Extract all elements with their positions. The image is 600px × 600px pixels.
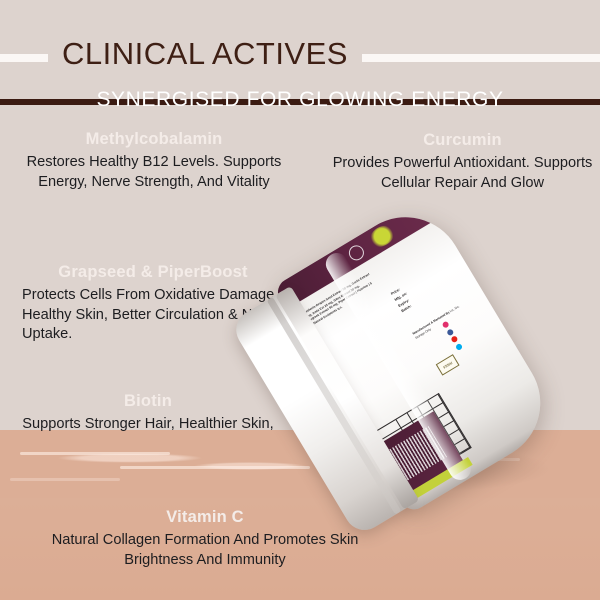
label-fields-microtext: Price: Mfg. on: Expiry: Batch:	[390, 268, 443, 315]
youtube-icon	[450, 335, 458, 343]
ingredient-block-biotin: Biotin Supports Stronger Hair, Healthier…	[18, 392, 278, 435]
ingredient-name: Methylcobalamin	[14, 130, 294, 149]
page-subtitle-text: SYNERGISED FOR GLOWING ENERGY	[86, 88, 513, 112]
social-icons	[442, 321, 465, 353]
product-image: Ingredients:Grapes Seed Extract 50 mg, G…	[250, 196, 600, 546]
ingredient-name: Curcumin	[330, 131, 595, 150]
page-subtitle: SYNERGISED FOR GLOWING ENERGY	[0, 88, 600, 112]
ingredient-block-methylcobalamin: Methylcobalamin Restores Healthy B12 Lev…	[14, 130, 294, 192]
label-manufacturer-microtext: Manufactured & Marketed By Lic. No. Stor…	[412, 302, 466, 340]
marketing-graphic: CLINICAL ACTIVES SYNERGISED FOR GLOWING …	[0, 0, 600, 600]
ingredient-description: Provides Powerful Antioxidant. Supports …	[330, 154, 595, 193]
ingredient-name: Biotin	[18, 392, 278, 411]
label-logo-icon	[346, 243, 367, 264]
twitter-icon	[455, 342, 463, 350]
fssai-logo: FSSAI	[436, 354, 460, 375]
ingredient-description: Restores Healthy B12 Levels. Supports En…	[14, 153, 294, 192]
ingredient-description: Supports Stronger Hair, Healthier Skin,	[18, 415, 278, 435]
instagram-icon	[442, 321, 450, 329]
ingredient-block-curcumin: Curcumin Provides Powerful Antioxidant. …	[330, 131, 595, 193]
page-title-text: CLINICAL ACTIVES	[48, 36, 362, 72]
fssai-text: FSSAI	[442, 361, 453, 370]
page-title: CLINICAL ACTIVES	[0, 36, 600, 72]
supplement-jar: Ingredients:Grapes Seed Extract 50 mg, G…	[228, 196, 562, 542]
facebook-icon	[446, 328, 454, 336]
label-glow-icon	[366, 222, 398, 252]
